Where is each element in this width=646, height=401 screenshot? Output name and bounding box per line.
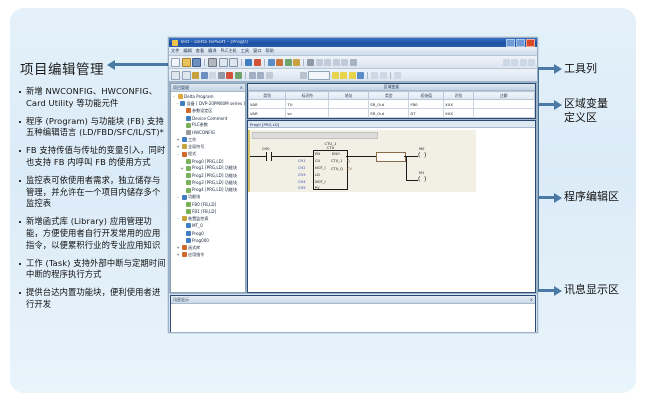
compile-icon[interactable] [285,59,292,66]
tree-node[interactable]: +函式库 [172,244,245,251]
grid-icon[interactable] [520,59,527,66]
list-item: 监控表可依使用者需求，独立储存与管理，并允许在一个项目内储存多个监控表 [18,175,168,210]
tree-node[interactable]: FB1 [FB,LD] [172,208,245,215]
cell-ident: XXX [444,100,473,109]
menu-item-compile[interactable]: 编译 [208,48,216,54]
application-window: Test - Delta ISPSoft - [Prog0] 文件 编辑 查看 … [168,37,538,333]
fb-pin-ld: LD [315,173,320,177]
stop-icon[interactable] [341,59,348,66]
menu-item-view[interactable]: 查看 [196,48,204,54]
cell-comment [473,109,534,118]
tree-node-label: HWCONFIG [192,130,215,135]
fb-pin-en: EN [315,152,320,156]
zoom-level-select[interactable] [308,71,330,80]
tree-node-icon [186,188,191,193]
list-item: 提供台达内置功能块，便利使用者进行开发 [18,287,168,310]
label-icon[interactable] [300,72,307,79]
toolbar-separator [241,59,242,66]
callout-label-variable-area: 区域变量 定义区 [564,97,608,124]
tree-node-icon [182,144,187,149]
coil-label-1: M1 [419,171,424,175]
upload-icon[interactable] [307,59,314,66]
tree-node-label: 参数设定区 [192,108,212,114]
expand-icon[interactable]: + [176,245,180,250]
callout-label-variable-area-line2: 定义区 [564,111,608,125]
menu-bar: 文件 编辑 查看 编译 PLC主机 工具 窗口 帮助 [169,47,537,56]
new-icon[interactable] [171,58,180,67]
coil-label-0: M0 [419,147,424,151]
cell-identifier: se [286,109,329,118]
cell-class: VAR [249,100,286,109]
variable-table[interactable]: 类别 标识符 地址 类型 初始值 识别 注解 VARTUSR_OutFB0XXX… [248,91,535,118]
tree-node[interactable]: -装置监控表 [172,215,245,222]
app-icon [172,40,178,46]
run-icon[interactable] [333,59,340,66]
ladder-canvas[interactable]: CH0 CTU_1 CTU [248,128,535,292]
tree-node-label: Prog1 [PRG,LD] 功能块 [192,165,237,171]
monitor-icon[interactable] [324,59,331,66]
tree-node[interactable]: -程式 [172,151,245,158]
collapse-icon[interactable]: - [176,195,180,200]
tree-node-icon [182,252,187,257]
wire [271,156,313,157]
slide-root: 项目编辑管理 新增 NWCONFIG、HWCONFIG、Card Utility… [0,0,646,401]
expand-icon[interactable]: + [176,252,180,257]
column-identifier: 标识符 [286,92,329,100]
column-type: 类型 [369,92,409,100]
tree-node-label: 程式 [188,151,196,157]
cell-address [329,100,369,109]
table-row[interactable]: VARseSR_OutDTXXX [249,109,535,118]
list-item: 程序 (Program) 与功能块 (FB) 支持五种编辑语言 (LD/FBD/… [18,116,168,139]
column-initial: 初始值 [409,92,444,100]
power-rail [248,130,250,192]
maximize-button[interactable] [516,39,525,47]
tree-node-label: Prog000 [192,238,209,243]
program-editor-pane: Prog0 [PRG,LD] CH0 [247,120,536,293]
fb-output-cv-var: CV [347,167,352,171]
tree-node-label: 函式库 [188,245,200,251]
delete-icon[interactable] [235,72,242,79]
collapse-icon[interactable]: - [172,94,176,99]
expand-icon[interactable]: + [180,166,184,171]
wire [406,180,418,181]
fb-pin-eno: ENO [332,152,340,156]
tree-node-icon [186,166,191,171]
online-icon[interactable] [316,59,323,66]
menu-item-window[interactable]: 窗口 [253,48,261,54]
tree-node[interactable]: +工作 [172,136,245,143]
tree-node-icon [186,123,191,128]
project-tree-pane: 项目管理 × -Delta Program-设备 [ DVP-20PM00M s… [170,83,246,293]
goto-icon[interactable] [357,72,364,79]
tree-node-label: MT_0 [192,223,203,228]
tree-node-icon [182,137,187,142]
column-address: 地址 [329,92,369,100]
cell-address [329,109,369,118]
local-variable-title: 区域变量 [384,84,399,90]
tree-node[interactable]: Prog2 [PRG,LD] 功能块 [172,172,245,179]
help-icon[interactable] [394,72,401,79]
zoom-in-icon[interactable] [350,59,357,66]
collapse-icon[interactable]: - [176,152,180,157]
cell-identifier: TU [286,100,329,109]
message-pane: 讯息显示 × [170,295,536,333]
tree-node[interactable]: Prog4 [PRG,LD] 功能块 [172,186,245,193]
list-item: 新增函式库 (Library) 应用管理功能，方便使用者自行开发常用的应用指令，… [18,216,168,251]
cell-ident: XXX [444,109,473,118]
minimize-button[interactable] [506,39,515,47]
tree-node-label: 功能块 [188,194,200,200]
redo-icon[interactable] [276,59,283,66]
tree-node-label: Delta Program [184,94,214,99]
fb-pin-pv: PV [315,186,320,190]
print-preview-icon[interactable] [219,58,228,67]
local-variable-caption: 区域变量 [248,84,535,91]
list-item: 新增 NWCONFIG、HWCONFIG、Card Utility 等功能元件 [18,86,168,109]
feature-column: 项目编辑管理 新增 NWCONFIG、HWCONFIG、Card Utility… [18,58,168,317]
expand-icon[interactable]: + [176,137,180,142]
input-contact-label: CH0 [262,147,270,151]
tree-node[interactable]: -设备 [ DVP-20PM00M series ] [172,100,245,107]
tree-node-icon [186,231,191,236]
print-icon[interactable] [208,58,217,67]
toolbar-row-1 [169,56,537,69]
tree-node[interactable]: PLC参数 [172,122,245,129]
tree-node-icon [178,94,183,99]
network-comment-bar [252,132,378,139]
table-row[interactable]: VARTUSR_OutFB0XXX [249,100,535,109]
tree-node-icon [186,159,191,164]
save-icon[interactable] [192,58,201,67]
insert-network-icon[interactable] [340,72,347,79]
tree-node[interactable]: FB0 [FB,LD] [172,201,245,208]
tree-node[interactable]: +应用指令 [172,251,245,258]
tree-node-label: FB0 [FB,LD] [192,202,216,207]
block-icon[interactable] [209,72,216,79]
project-tree-title: 项目管理 [173,85,189,91]
pane-close-icon[interactable]: × [240,85,243,90]
work-area: 项目管理 × -Delta Program-设备 [ DVP-20PM00M s… [169,82,537,294]
tree-node-icon [186,130,191,135]
branch-icon[interactable] [226,72,233,79]
program-editor-tab-label: Prog0 [PRG,LD] [250,122,279,127]
download-icon[interactable] [293,59,300,66]
column-class: 类别 [249,92,286,100]
tree-node[interactable]: Prog3 [PRG,LD] 功能块 [172,179,245,186]
tree-node-label: Prog4 [PRG,LD] 功能块 [192,187,237,193]
fb-pin-not-i-2: NOT_I [315,180,326,184]
tree-node-label: Prog2 [PRG,LD] 功能块 [192,173,237,179]
copy-icon[interactable] [245,59,252,66]
fit-view-icon[interactable] [511,59,518,66]
coil-icon[interactable] [192,72,199,79]
tree-node-icon [182,245,187,250]
toolbar-separator [303,59,304,66]
expand-icon[interactable]: + [176,144,180,149]
tree-node-label: Device Comment [192,116,227,121]
page-title: 项目编辑管理 [20,58,168,78]
wire [346,156,376,157]
tree-node[interactable]: +Prog1 [PRG,LD] 功能块 [172,165,245,172]
message-pane-caption: 讯息显示 × [171,296,535,304]
fb-pin-not-i-1: NOT_I [315,166,326,170]
tree-node-icon [186,223,191,228]
tree-node-icon [186,202,191,207]
cell-type: SR_Out [369,100,409,109]
menu-item-tools[interactable]: 工具 [241,48,249,54]
zoom-out-icon[interactable] [503,59,510,66]
feature-bullet-list: 新增 NWCONFIG、HWCONFIG、Card Utility 等功能元件 … [18,86,168,311]
tree-node[interactable]: Prog0 [PRG,LD] [172,158,245,165]
cell-initial: FB0 [409,100,444,109]
editor-column: 区域变量 类别 标识符 地址 类型 初始值 识别 注解 [247,83,536,293]
collapse-icon[interactable]: - [176,216,180,221]
toolbar-separator [367,72,368,79]
tree-node-icon [186,116,191,121]
fb-input-var-3: CH3 [298,173,306,177]
toolbar-separator [245,72,246,79]
tree-node[interactable]: 参数设定区 [172,107,245,114]
toolbar-separator [204,59,205,66]
fb-input-var-2: CH2 [298,166,306,170]
menu-item-edit[interactable]: 编辑 [183,48,191,54]
simulate-icon[interactable] [371,72,378,79]
cell-comment [473,100,534,109]
variable-table-body[interactable]: VARTUSR_OutFB0XXXVARseSR_OutDTXXX [249,100,535,118]
fb-output-cv-label: CTU_Q [331,167,343,171]
inverse-coil-icon[interactable] [201,72,208,79]
menu-item-plc[interactable]: PLC主机 [221,48,237,54]
tree-node-label: FB1 [FB,LD] [192,209,216,214]
fb-input-var-1: CH1 [298,159,306,163]
tree-node-label: Prog3 [PRG,LD] 功能块 [192,180,237,186]
cell-class: VAR [249,109,286,118]
tree-node-icon [182,152,187,157]
column-comment: 注解 [473,92,534,100]
append-network-icon[interactable] [349,72,356,79]
menu-item-help[interactable]: 帮助 [266,48,274,54]
toolbar-row-2 [169,69,537,82]
wire-icon[interactable] [218,72,225,79]
fb-output-q-var: Q [347,159,350,163]
message-pane-close-icon[interactable]: × [530,297,533,302]
rung-background [248,130,476,192]
fb-input-var-5: CH5 [298,186,306,190]
contact-nc-icon[interactable] [182,71,191,80]
callout-label-toolbar: 工具列 [564,62,597,76]
tree-node[interactable]: MT_0 [172,222,245,229]
cut-icon[interactable] [229,58,238,67]
local-variable-pane: 区域变量 类别 标识符 地址 类型 初始值 识别 注解 [247,83,536,119]
wire [250,156,266,157]
fb-pin-cu: CU [315,159,320,163]
function-block-labels: CTU_1 CTU [314,142,347,151]
toolbar-separator [390,72,391,79]
tree-node[interactable]: Prog000 [172,237,245,244]
list-item: 工作 (Task) 支持外部中断与定期时间中断的程序执行方式 [18,258,168,281]
tree-node-label: 装置监控表 [188,216,208,222]
callout-label-message-area: 讯息显示区 [564,283,619,297]
comment-icon[interactable] [266,72,273,79]
program-editor-tab[interactable]: Prog0 [PRG,LD] [248,121,535,128]
toolbar-separator [264,59,265,66]
tree-node[interactable]: Prog0 [172,230,245,237]
tree-node-label: 设备 [ DVP-20PM00M series ] [187,101,245,107]
network-icon[interactable] [332,72,339,79]
project-tree-caption: 项目管理 × [171,84,245,92]
tree-node-icon [186,238,191,243]
tree-node-icon [180,101,185,106]
project-tree[interactable]: -Delta Program-设备 [ DVP-20PM00M series ]… [171,92,245,292]
properties-icon[interactable] [528,59,535,66]
watch-icon[interactable] [380,72,387,79]
table-header-row: 类别 标识符 地址 类型 初始值 识别 注解 [249,92,535,100]
open-icon[interactable] [182,58,191,67]
column-ident: 识别 [444,92,473,100]
replace-icon[interactable] [257,72,264,79]
callout-label-program-area: 程序编辑区 [564,190,619,204]
tree-node[interactable]: +全局符号 [172,143,245,150]
tree-node-label: PLC参数 [192,122,208,128]
contact-no-icon[interactable] [171,71,180,80]
tree-node-icon [182,195,187,200]
output-instruction-box[interactable] [376,152,406,162]
message-pane-title: 讯息显示 [173,297,189,303]
undo-icon[interactable] [268,59,275,66]
close-button[interactable] [526,39,535,47]
list-item: FB 支持传值与传址的变量引入，同时也支持 FB 内呼叫 FB 的使用方式 [18,145,168,168]
tree-node-label: 工作 [188,137,196,143]
find-icon[interactable] [249,72,256,79]
tree-node-label: 全局符号 [188,144,204,150]
tree-node-icon [186,173,191,178]
window-title-bar: Test - Delta ISPSoft - [Prog0] [169,38,537,47]
tree-node-label: Prog0 [192,231,204,236]
tree-node-icon [182,216,187,221]
menu-item-file[interactable]: 文件 [171,48,179,54]
tree-node-label: Prog0 [PRG,LD] [192,159,223,164]
tree-node[interactable]: HWCONFIG [172,129,245,136]
fb-output-q-label: CTU_1 [331,159,342,163]
paste-icon[interactable] [254,59,261,66]
cell-type: SR_Out [369,109,409,118]
function-block-type: CTU [314,146,347,150]
tree-node[interactable]: -Delta Program [172,93,245,100]
tree-node[interactable]: -功能块 [172,194,245,201]
tree-node-icon [186,180,191,185]
cell-initial: DT [409,109,444,118]
tree-node-icon [186,108,191,113]
fb-input-var-4: CH4 [298,180,306,184]
tree-node[interactable]: Device Comment [172,115,245,122]
tree-node-icon [186,209,191,214]
message-pane-body[interactable] [171,304,535,333]
tree-node-label: 应用指令 [188,252,204,258]
collapse-icon[interactable]: - [176,101,179,106]
window-controls [506,39,536,47]
callout-label-variable-area-line1: 区域变量 [564,97,608,111]
window-title: Test - Delta ISPSoft - [Prog0] [180,40,506,45]
wire [406,156,407,180]
